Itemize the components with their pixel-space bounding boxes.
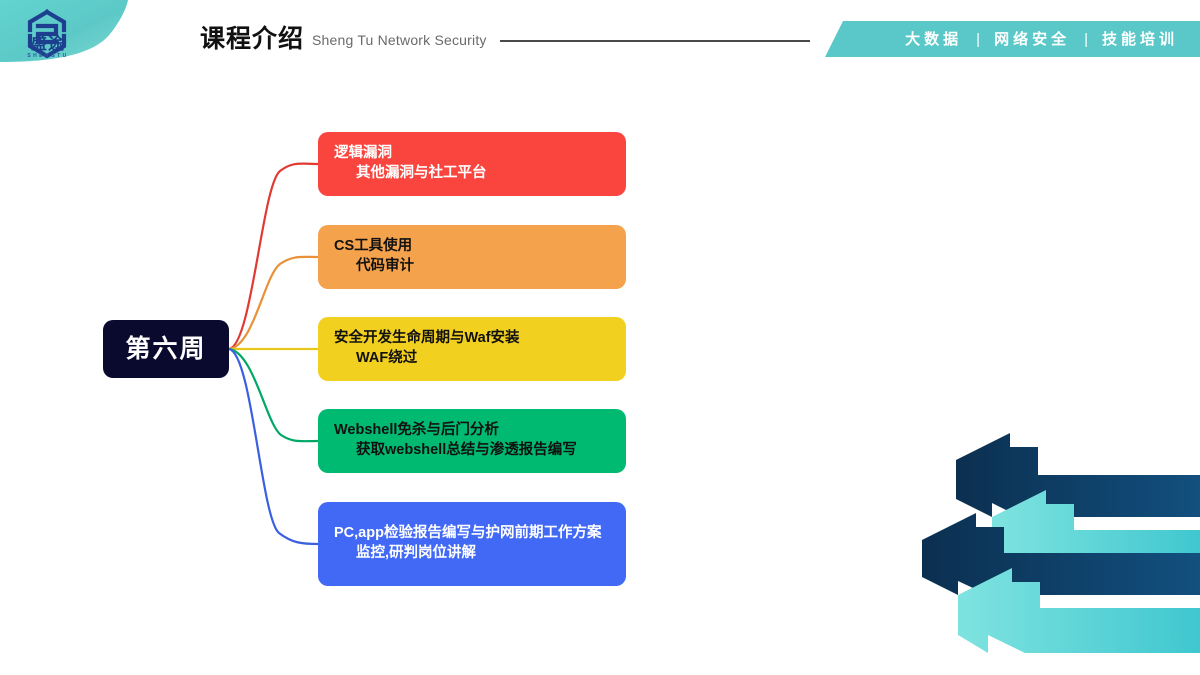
mindmap-branch-1[interactable]: CS工具使用 代码审计 xyxy=(318,225,626,289)
branch-0-line1: 逻辑漏洞 xyxy=(334,144,612,164)
connector-1 xyxy=(229,257,318,349)
branch-3-line1: Webshell免杀与后门分析 xyxy=(334,421,612,441)
branch-2-line1: 安全开发生命周期与Waf安装 xyxy=(334,329,612,349)
branch-1-line1: CS工具使用 xyxy=(334,237,612,257)
mindmap: 第六周 逻辑漏洞 其他漏洞与社工平台 CS工具使用 代码审计 安全开发生命周期与… xyxy=(0,0,1200,675)
connector-4 xyxy=(229,349,318,544)
branch-4-line2: 监控,研判岗位讲解 xyxy=(334,544,612,564)
mindmap-branch-0[interactable]: 逻辑漏洞 其他漏洞与社工平台 xyxy=(318,132,626,196)
connector-0 xyxy=(229,164,318,349)
branch-4-line1: PC,app检验报告编写与护网前期工作方案 xyxy=(334,524,612,544)
mindmap-root-node[interactable]: 第六周 xyxy=(103,320,229,378)
slide-root: 盛途 SHENGTU 课程介绍 Sheng Tu Network Securit… xyxy=(0,0,1200,675)
mindmap-branch-2[interactable]: 安全开发生命周期与Waf安装 WAF绕过 xyxy=(318,317,626,381)
connector-3 xyxy=(229,349,318,441)
mindmap-branch-3[interactable]: Webshell免杀与后门分析 获取webshell总结与渗透报告编写 xyxy=(318,409,626,473)
mindmap-branch-4[interactable]: PC,app检验报告编写与护网前期工作方案 监控,研判岗位讲解 xyxy=(318,502,626,586)
branch-0-line2: 其他漏洞与社工平台 xyxy=(334,164,612,184)
branch-1-line2: 代码审计 xyxy=(334,257,612,277)
mindmap-root-label: 第六周 xyxy=(125,337,206,362)
branch-2-line2: WAF绕过 xyxy=(334,349,612,369)
branch-3-line2: 获取webshell总结与渗透报告编写 xyxy=(334,441,612,461)
